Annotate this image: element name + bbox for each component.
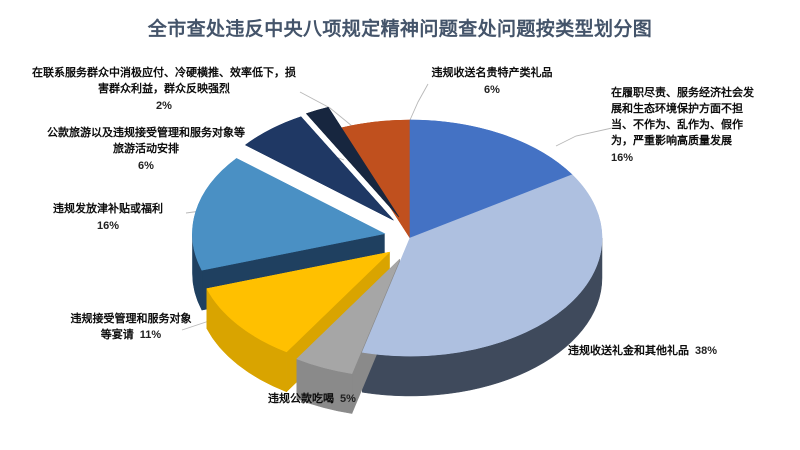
callout-label-line: 违规收送名贵特产类礼品	[398, 66, 586, 82]
pie-chart-figure: 全市查处违反中央八项规定精神问题查处问题按类型划分图 在履职尽责、服务经济社会发…	[0, 0, 800, 450]
callout-label-line: 旅游活动安排	[22, 142, 270, 158]
callout-label-line: 违规接受管理和服务对象	[36, 312, 226, 328]
callout-performance-of-duty: 在履职尽责、服务经济社会发 展和生态环境保护方面不担 当、不作为、乱作为、假作 …	[611, 86, 791, 167]
callout-label-text: 等宴请	[101, 329, 134, 341]
callout-label-line: 违规发放津补贴或福利	[28, 202, 188, 218]
callout-percent: 16%	[28, 219, 188, 235]
callout-percent: 2%	[24, 99, 304, 115]
callout-public-funded-travel: 公款旅游以及违规接受管理和服务对象等 旅游活动安排 6%	[22, 126, 270, 175]
callout-label-line: 公款旅游以及违规接受管理和服务对象等	[22, 126, 270, 142]
callout-passive-service: 在联系服务群众中消极应付、冷硬横推、效率低下，损 害群众利益，群众反映强烈 2%	[24, 66, 304, 115]
callout-percent: 6%	[22, 159, 270, 175]
callout-label-line: 为，严重影响高质量发展	[611, 134, 791, 150]
leader-line-performance-of-duty	[556, 128, 612, 146]
callout-percent: 16%	[611, 151, 791, 167]
callout-percent: 6%	[398, 83, 586, 99]
callout-label-line: 违规收送礼金和其他礼品	[568, 345, 689, 357]
callout-gift-money-and-other-gifts: 违规收送礼金和其他礼品38%	[568, 344, 798, 360]
callout-label-line: 在联系服务群众中消极应付、冷硬横推、效率低下，损	[24, 66, 304, 82]
callout-label-line: 违规公款吃喝	[268, 393, 334, 405]
callout-label-line: 等宴请11%	[36, 328, 226, 344]
callout-rare-specialty-gifts: 违规收送名贵特产类礼品 6%	[398, 66, 586, 99]
callout-label-line: 当、不作为、乱作为、假作	[611, 118, 791, 134]
callout-label-line: 在履职尽责、服务经济社会发	[611, 86, 791, 102]
callout-label-line: 展和生态环境保护方面不担	[611, 102, 791, 118]
callout-public-funded-banquets: 违规公款吃喝5%	[212, 392, 412, 408]
callout-illegal-allowances: 违规发放津补贴或福利 16%	[28, 202, 188, 235]
callout-percent: 11%	[140, 329, 161, 341]
callout-accepting-banquets: 违规接受管理和服务对象 等宴请11%	[36, 312, 226, 344]
callout-percent: 5%	[340, 393, 356, 405]
callout-percent: 38%	[695, 345, 717, 357]
callout-label-line: 害群众利益，群众反映强烈	[24, 82, 304, 98]
